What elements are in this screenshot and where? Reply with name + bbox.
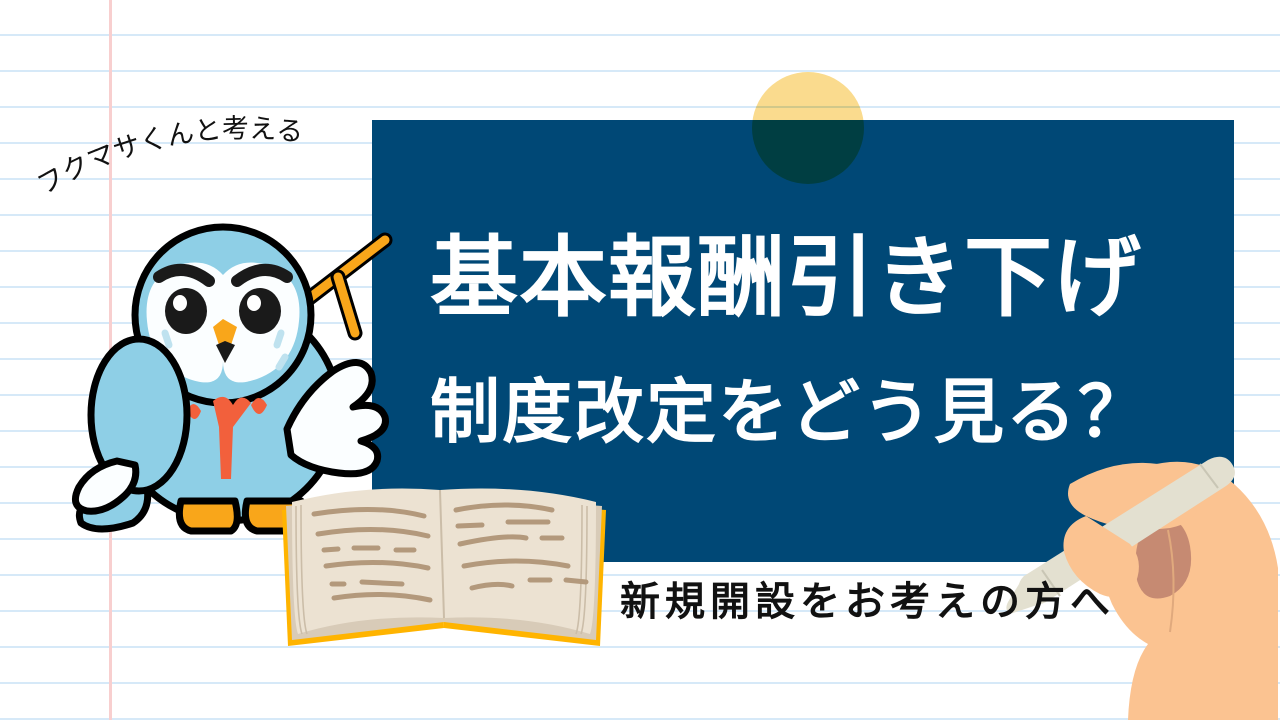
accent-circle-icon	[752, 72, 864, 184]
handwriting-text: フクマサくんと考える	[32, 113, 305, 201]
page-title: 基本報酬引き下げ	[430, 224, 1170, 332]
hand-holding-pen-icon	[1002, 418, 1280, 720]
open-book-icon	[268, 468, 618, 658]
footer-note: 新規開設をお考えの方へ	[620, 578, 1115, 626]
page-subtitle: 制度改定をどう見る？	[430, 370, 1170, 454]
handwritten-arc-label: フクマサくんと考える	[20, 95, 380, 205]
